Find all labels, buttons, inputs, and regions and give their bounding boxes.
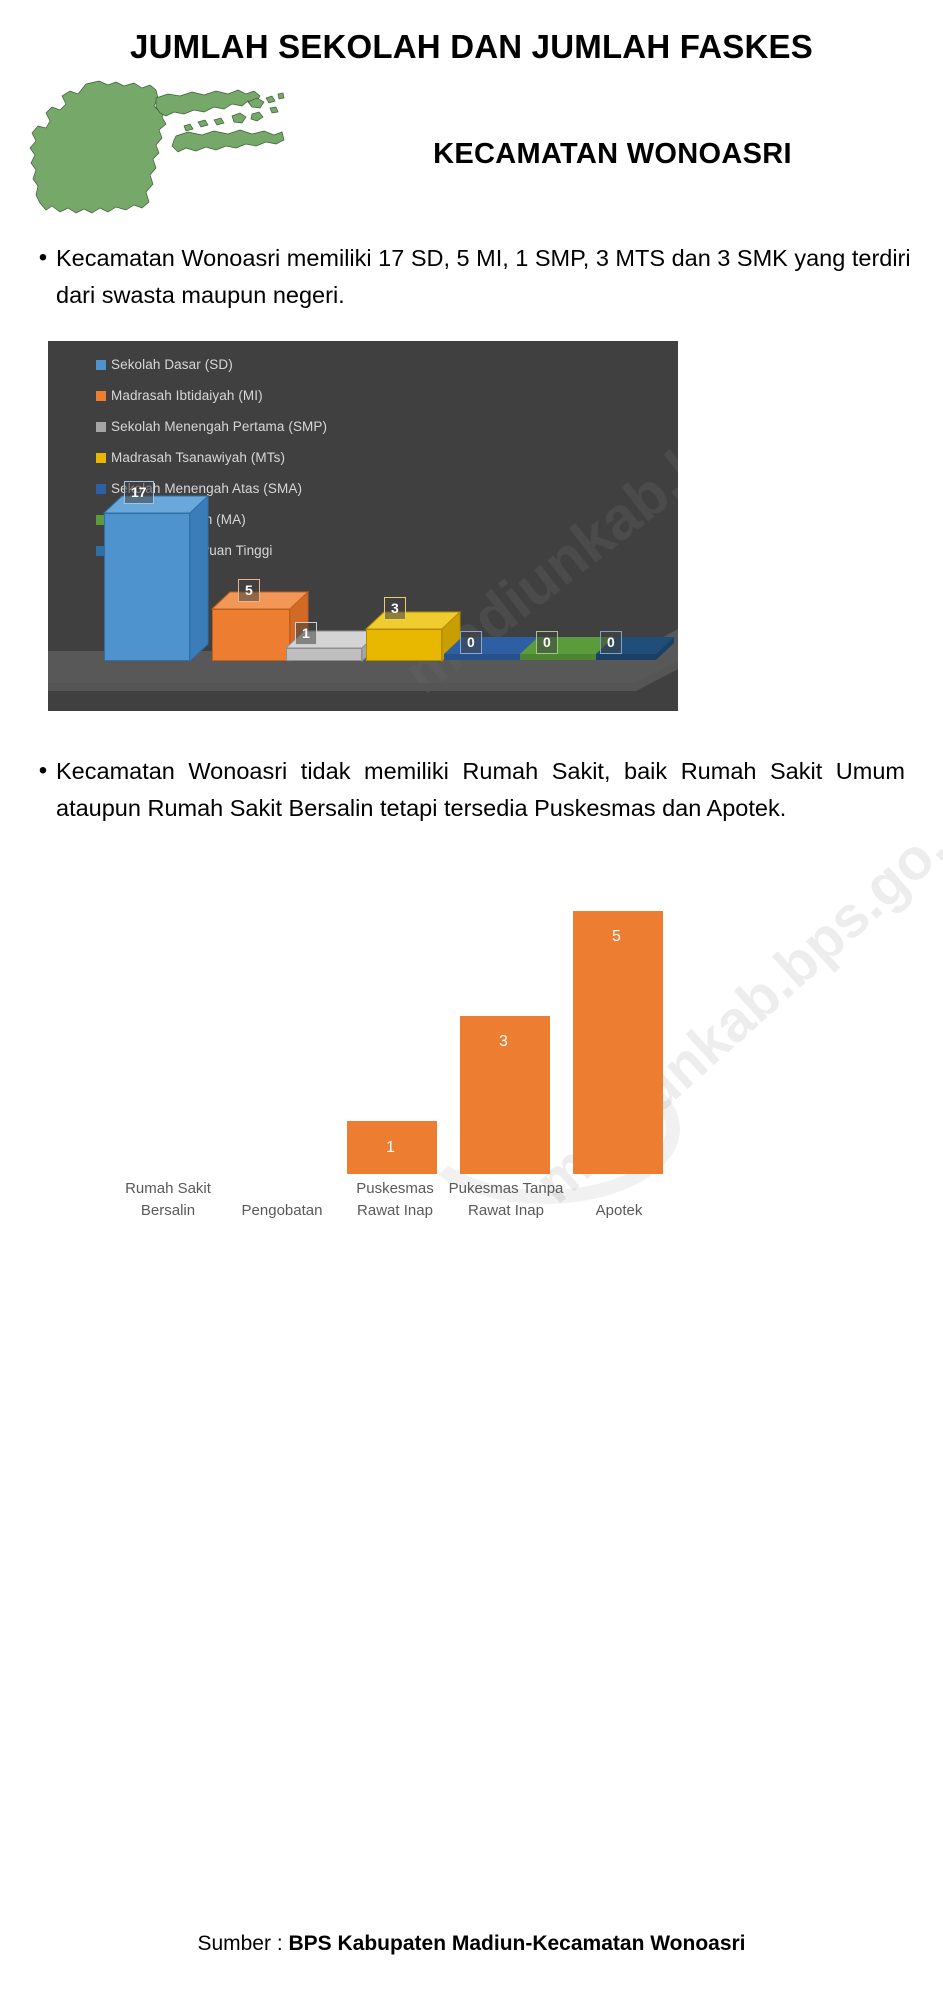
bar-sd [104,513,190,661]
schools-chart-bars: 17 5 1 3 [48,341,678,711]
source-footer: Sumber : BPS Kabupaten Madiun-Kecamatan … [0,1932,943,1956]
bullet-health-text: Kecamatan Wonoasri tidak memiliki Rumah … [56,753,913,826]
bar-label-pt: 0 [600,631,622,654]
bar-ma [520,654,596,660]
bar-label-puskesmas-rawat-inap: 1 [386,1139,395,1157]
bar-label-sma: 0 [460,631,482,654]
cat-label-puskesmas-tanpa-rawat-inap: Pukesmas Tanpa Rawat Inap [448,1178,564,1222]
east-java-map-icon [16,76,286,216]
bar-label-ma: 0 [536,631,558,654]
bar-label-sd: 17 [124,481,154,504]
bar-mts [366,629,442,661]
source-value: BPS Kabupaten Madiun-Kecamatan Wonoasri [289,1932,746,1955]
bar-label-mi: 5 [238,579,260,602]
bullet-schools-text: Kecamatan Wonoasri memiliki 17 SD, 5 MI,… [56,240,913,313]
bullet-marker: • [30,240,56,276]
bar-smp [286,648,362,661]
bar-mi [212,609,290,661]
header: JUMLAH SEKOLAH DAN JUMLAH FASKES [0,0,943,68]
map-subtitle-row: KECAMATAN WONOASRI [0,76,943,216]
cat-label-puskesmas-rawat-inap: Puskesmas Rawat Inap [336,1178,454,1222]
bullet-schools: • Kecamatan Wonoasri memiliki 17 SD, 5 M… [30,240,913,313]
bullet-marker-2: • [30,753,56,789]
bar-label-smp: 1 [295,622,317,645]
source-lead: Sumber : [197,1932,288,1955]
faskes-chart: madiunkab.bps.go.id 1 3 5 Rumah Sakit Be… [0,844,943,1284]
bullet-health: • Kecamatan Wonoasri tidak memiliki Ruma… [30,753,913,826]
bar-pt [596,654,656,660]
faskes-chart-bars: 1 3 5 [0,844,943,1174]
bar-sma [444,654,520,660]
bar-apotek [573,911,663,1174]
bar-label-puskesmas-tanpa-rawat-inap: 3 [499,1033,508,1051]
faskes-chart-axis: Rumah Sakit Bersalin Pengobatan Puskesma… [0,1176,943,1284]
cat-label-rs-bersalin: Rumah Sakit Bersalin [108,1178,228,1222]
bar-label-mts: 3 [384,597,406,620]
cat-label-apotek: Apotek [560,1200,678,1222]
page-title: JUMLAH SEKOLAH DAN JUMLAH FASKES [118,26,825,68]
cat-label-pengobatan: Pengobatan [222,1200,342,1222]
schools-chart: madiunkab.bps.go.id Sekolah Dasar (SD) M… [48,341,678,711]
bar-label-apotek: 5 [612,928,621,946]
page-subtitle: KECAMATAN WONOASRI [300,138,925,171]
